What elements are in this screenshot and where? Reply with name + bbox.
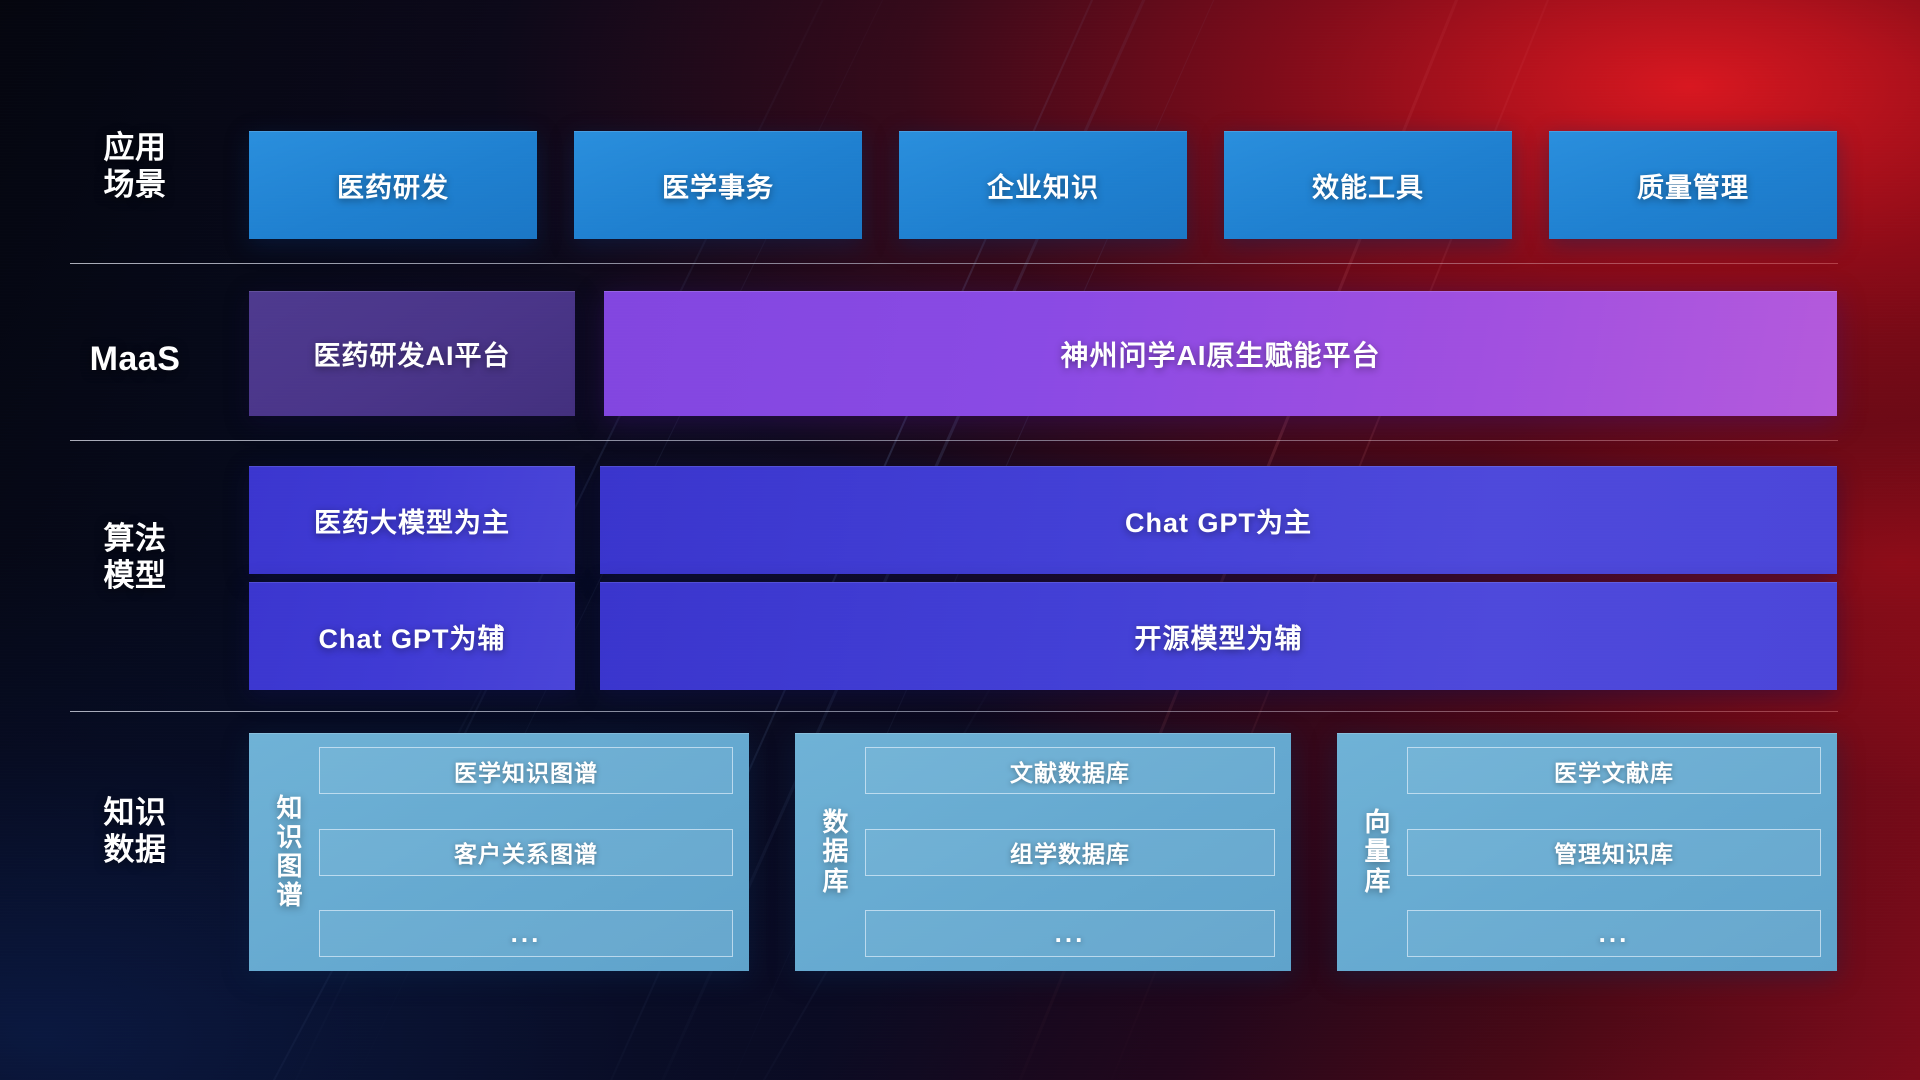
knowledge-item-database-more[interactable]: ... xyxy=(865,910,1275,957)
algo-box-chatgpt-primary-label: Chat GPT为主 xyxy=(1125,501,1312,540)
app-box-efficiency-tools[interactable]: 效能工具 xyxy=(1224,131,1512,239)
app-box-quality-management[interactable]: 质量管理 xyxy=(1549,131,1837,239)
row-label-knowledge: 知识 数据 xyxy=(70,795,200,868)
row-label-knowledge-line1: 知识 xyxy=(70,795,200,832)
knowledge-item-medical-graph[interactable]: 医学知识图谱 xyxy=(319,747,733,794)
knowledge-panel-database-title: 数据库 xyxy=(807,747,865,957)
knowledge-item-medical-graph-label: 医学知识图谱 xyxy=(454,754,598,788)
knowledge-item-customer-graph[interactable]: 客户关系图谱 xyxy=(319,829,733,876)
app-box-enterprise-knowledge-label: 企业知识 xyxy=(987,166,1099,205)
row-label-knowledge-line2: 数据 xyxy=(70,832,200,869)
app-box-efficiency-tools-label: 效能工具 xyxy=(1312,166,1424,205)
algo-box-chatgpt-secondary[interactable]: Chat GPT为辅 xyxy=(249,582,575,690)
row-label-application-line2: 场景 xyxy=(70,167,200,204)
diagram-canvas: 应用 场景 医药研发 医学事务 企业知识 效能工具 质量管理 MaaS 医药研发… xyxy=(0,0,1920,1080)
row-label-maas-text: MaaS xyxy=(70,339,200,379)
algo-box-chatgpt-primary[interactable]: Chat GPT为主 xyxy=(600,466,1837,574)
knowledge-panel-vector-title: 向量库 xyxy=(1349,747,1407,957)
knowledge-panel-database-items: 文献数据库 组学数据库 ... xyxy=(865,747,1275,957)
knowledge-panel-vector[interactable]: 向量库 医学文献库 管理知识库 ... xyxy=(1337,733,1837,971)
algo-box-opensource-secondary-label: 开源模型为辅 xyxy=(1135,617,1303,656)
maas-box-shenzhou-wenxue-platform-label: 神州问学AI原生赋能平台 xyxy=(1060,334,1380,374)
app-box-medical-affairs[interactable]: 医学事务 xyxy=(574,131,862,239)
app-box-quality-management-label: 质量管理 xyxy=(1637,166,1749,205)
knowledge-item-management-knowledge[interactable]: 管理知识库 xyxy=(1407,829,1821,876)
row-label-application-line1: 应用 xyxy=(70,130,200,167)
algo-box-opensource-secondary[interactable]: 开源模型为辅 xyxy=(600,582,1837,690)
knowledge-item-literature-db-label: 文献数据库 xyxy=(1010,754,1130,788)
knowledge-panel-graph[interactable]: 知识图谱 医学知识图谱 客户关系图谱 ... xyxy=(249,733,749,971)
maas-box-medicine-ai-platform[interactable]: 医药研发AI平台 xyxy=(249,291,575,416)
knowledge-panel-graph-items: 医学知识图谱 客户关系图谱 ... xyxy=(319,747,733,957)
algo-box-chatgpt-secondary-label: Chat GPT为辅 xyxy=(318,617,505,656)
knowledge-panel-database[interactable]: 数据库 文献数据库 组学数据库 ... xyxy=(795,733,1291,971)
algo-box-medicine-llm-primary-label: 医药大模型为主 xyxy=(314,501,510,540)
knowledge-item-medical-literature-label: 医学文献库 xyxy=(1554,754,1674,788)
row-label-algorithm-line1: 算法 xyxy=(70,521,200,558)
divider-after-maas xyxy=(70,440,1838,441)
knowledge-panel-graph-title: 知识图谱 xyxy=(261,747,319,957)
row-label-application: 应用 场景 xyxy=(70,130,200,203)
knowledge-item-vector-more-label: ... xyxy=(1599,918,1630,949)
knowledge-item-vector-more[interactable]: ... xyxy=(1407,910,1821,957)
divider-after-application xyxy=(70,263,1838,264)
knowledge-item-medical-literature[interactable]: 医学文献库 xyxy=(1407,747,1821,794)
app-box-enterprise-knowledge[interactable]: 企业知识 xyxy=(899,131,1187,239)
knowledge-item-omics-db[interactable]: 组学数据库 xyxy=(865,829,1275,876)
app-box-medicine-rnd-label: 医药研发 xyxy=(337,166,449,205)
divider-after-algorithm xyxy=(70,711,1838,712)
maas-box-shenzhou-wenxue-platform[interactable]: 神州问学AI原生赋能平台 xyxy=(604,291,1837,416)
knowledge-item-graph-more[interactable]: ... xyxy=(319,910,733,957)
maas-box-medicine-ai-platform-label: 医药研发AI平台 xyxy=(314,334,511,373)
row-label-algorithm-line2: 模型 xyxy=(70,558,200,595)
knowledge-item-literature-db[interactable]: 文献数据库 xyxy=(865,747,1275,794)
knowledge-item-database-more-label: ... xyxy=(1055,918,1086,949)
algo-box-medicine-llm-primary[interactable]: 医药大模型为主 xyxy=(249,466,575,574)
knowledge-item-customer-graph-label: 客户关系图谱 xyxy=(454,835,598,869)
app-box-medicine-rnd[interactable]: 医药研发 xyxy=(249,131,537,239)
diagram-content: 应用 场景 医药研发 医学事务 企业知识 效能工具 质量管理 MaaS 医药研发… xyxy=(0,0,1920,1080)
knowledge-item-graph-more-label: ... xyxy=(511,918,542,949)
row-label-maas: MaaS xyxy=(70,339,200,379)
knowledge-panel-vector-items: 医学文献库 管理知识库 ... xyxy=(1407,747,1821,957)
row-label-algorithm: 算法 模型 xyxy=(70,521,200,594)
knowledge-item-management-knowledge-label: 管理知识库 xyxy=(1554,835,1674,869)
app-box-medical-affairs-label: 医学事务 xyxy=(662,166,774,205)
knowledge-item-omics-db-label: 组学数据库 xyxy=(1010,835,1130,869)
